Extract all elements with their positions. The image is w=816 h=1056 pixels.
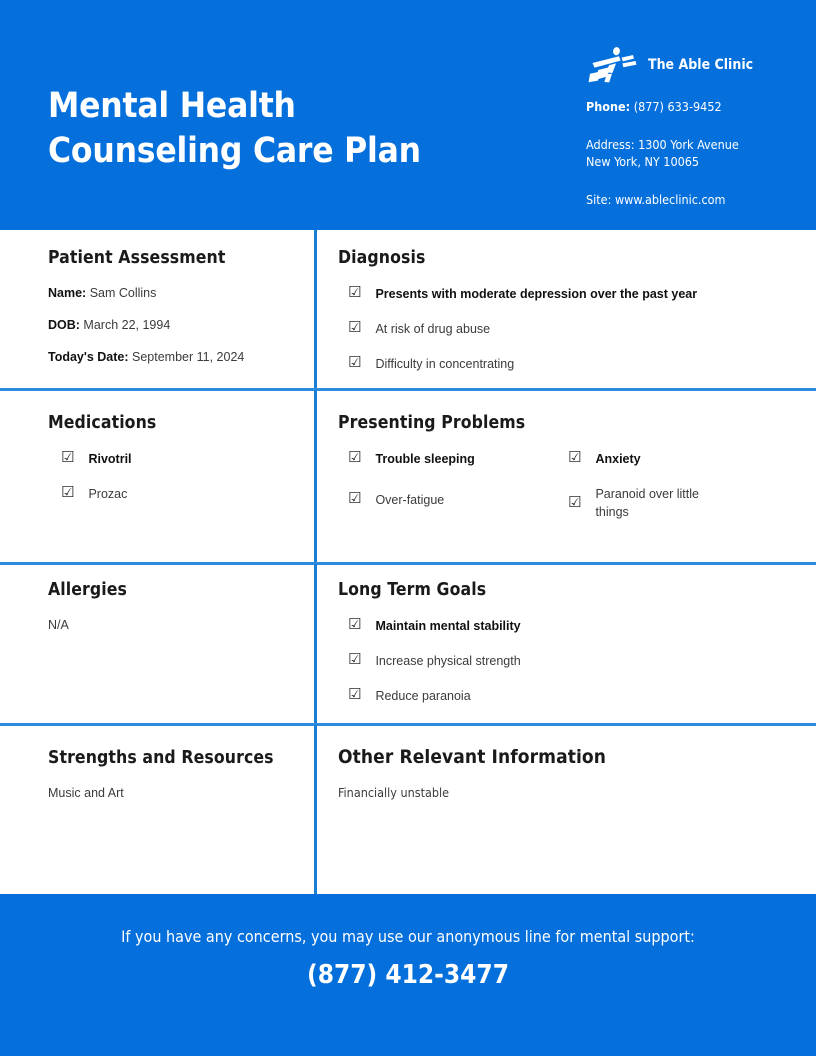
presenting-problems-columns: ☑ Trouble sleeping ☑ Over-fatigue ☑ Anxi… [338, 449, 788, 537]
list-item[interactable]: ☑ Trouble sleeping [348, 449, 568, 468]
page-title-line-1: Mental Health [48, 84, 488, 129]
row-divider-2 [0, 562, 816, 565]
field-todays-date-label: Today's Date: [48, 350, 129, 364]
section-title-medications: Medications [48, 413, 298, 433]
document-body: Patient Assessment Name: Sam Collins DOB… [0, 230, 816, 894]
allergies-value: N/A [48, 616, 298, 634]
document-footer: If you have any concerns, you may use ou… [0, 894, 816, 1056]
section-patient-assessment: Patient Assessment Name: Sam Collins DOB… [48, 248, 298, 380]
section-strengths-and-resources: Strengths and Resources Music and Art [48, 748, 308, 802]
list-item-label: Reduce paranoia [375, 686, 470, 705]
field-todays-date: Today's Date: September 11, 2024 [48, 348, 298, 366]
list-item[interactable]: ☑ Increase physical strength [348, 651, 788, 670]
list-item-label: At risk of drug abuse [375, 319, 490, 338]
clinic-address-line-2: New York, NY 10065 [586, 153, 806, 170]
checkbox-checked-icon[interactable]: ☑ [61, 484, 74, 501]
row-divider-3 [0, 723, 816, 726]
diagnosis-list: ☑ Presents with moderate depression over… [338, 284, 788, 373]
list-item[interactable]: ☑ Maintain mental stability [348, 616, 788, 635]
list-item[interactable]: ☑ Prozac [61, 484, 298, 503]
checkbox-checked-icon[interactable]: ☑ [568, 449, 581, 466]
footer-support-phone: (877) 412-3477 [0, 958, 816, 992]
section-presenting-problems: Presenting Problems ☑ Trouble sleeping ☑… [338, 413, 788, 537]
page-title: Mental Health Counseling Care Plan [48, 84, 488, 174]
field-dob-label: DOB: [48, 318, 80, 332]
list-item-label: Rivotril [88, 449, 131, 468]
list-item-label: Difficulty in concentrating [375, 354, 514, 373]
list-item[interactable]: ☑ Presents with moderate depression over… [348, 284, 788, 303]
list-item[interactable]: ☑ Over-fatigue [348, 490, 568, 509]
column-divider-row-4 [314, 725, 317, 894]
long-term-goals-list: ☑ Maintain mental stability ☑ Increase p… [338, 616, 788, 705]
field-dob: DOB: March 22, 1994 [48, 316, 298, 334]
field-name-label: Name: [48, 286, 86, 300]
presenting-problems-column-left: ☑ Trouble sleeping ☑ Over-fatigue [348, 449, 568, 537]
section-diagnosis: Diagnosis ☑ Presents with moderate depre… [338, 248, 788, 389]
other-relevant-information-value: Financially unstable [338, 784, 788, 802]
field-name-value: Sam Collins [86, 286, 156, 300]
field-todays-date-value: September 11, 2024 [129, 350, 245, 364]
section-title-other-relevant-information: Other Relevant Information [338, 746, 788, 768]
section-other-relevant-information: Other Relevant Information Financially u… [338, 746, 788, 802]
column-divider-row-3 [314, 564, 317, 723]
clinic-phone-value: (877) 633-9452 [630, 99, 722, 114]
running-figure-logo-icon [586, 46, 638, 84]
clinic-address-line-1: Address: 1300 York Avenue [586, 136, 806, 153]
list-item[interactable]: ☑ Rivotril [61, 449, 298, 468]
section-title-strengths-and-resources: Strengths and Resources [48, 748, 308, 768]
column-divider-row-1 [314, 230, 317, 388]
clinic-phone-label: Phone: [586, 99, 630, 114]
section-title-allergies: Allergies [48, 580, 298, 600]
medications-list: ☑ Rivotril ☑ Prozac [48, 449, 298, 503]
checkbox-checked-icon[interactable]: ☑ [348, 354, 361, 371]
list-item[interactable]: ☑ Paranoid over little things [568, 484, 788, 521]
list-item-label: Maintain mental stability [375, 616, 520, 635]
list-item-label: Paranoid over little things [595, 484, 725, 521]
checkbox-checked-icon[interactable]: ☑ [348, 284, 361, 301]
section-title-diagnosis: Diagnosis [338, 248, 788, 268]
clinic-website: Site: www.ableclinic.com [586, 192, 806, 208]
care-plan-document: Mental Health Counseling Care Plan [0, 0, 816, 1056]
checkbox-checked-icon[interactable]: ☑ [568, 494, 581, 511]
field-dob-value: March 22, 1994 [80, 318, 170, 332]
column-divider-row-2 [314, 390, 317, 562]
checkbox-checked-icon[interactable]: ☑ [348, 651, 361, 668]
field-name: Name: Sam Collins [48, 284, 298, 302]
section-medications: Medications ☑ Rivotril ☑ Prozac [48, 413, 298, 519]
footer-support-note: If you have any concerns, you may use ou… [0, 926, 816, 948]
section-long-term-goals: Long Term Goals ☑ Maintain mental stabil… [338, 580, 788, 721]
section-title-presenting-problems: Presenting Problems [338, 413, 788, 433]
checkbox-checked-icon[interactable]: ☑ [348, 616, 361, 633]
checkbox-checked-icon[interactable]: ☑ [61, 449, 74, 466]
clinic-address: Address: 1300 York Avenue New York, NY 1… [586, 136, 806, 170]
clinic-contact-block: Phone: (877) 633-9452 Address: 1300 York… [586, 99, 806, 208]
list-item-label: Anxiety [595, 449, 640, 468]
document-header: Mental Health Counseling Care Plan [0, 0, 816, 230]
section-title-patient-assessment: Patient Assessment [48, 248, 298, 268]
checkbox-checked-icon[interactable]: ☑ [348, 449, 361, 466]
list-item-label: Presents with moderate depression over t… [375, 284, 697, 303]
list-item-label: Increase physical strength [375, 651, 520, 670]
strengths-and-resources-value: Music and Art [48, 784, 308, 802]
list-item[interactable]: ☑ At risk of drug abuse [348, 319, 788, 338]
presenting-problems-column-right: ☑ Anxiety ☑ Paranoid over little things [568, 449, 788, 537]
list-item[interactable]: ☑ Reduce paranoia [348, 686, 788, 705]
list-item[interactable]: ☑ Anxiety [568, 449, 788, 468]
clinic-phone: Phone: (877) 633-9452 [586, 99, 806, 115]
list-item[interactable]: ☑ Difficulty in concentrating [348, 354, 788, 373]
section-allergies: Allergies N/A [48, 580, 298, 634]
list-item-label: Over-fatigue [375, 490, 444, 509]
checkbox-checked-icon[interactable]: ☑ [348, 490, 361, 507]
page-title-line-2: Counseling Care Plan [48, 129, 488, 174]
clinic-brand: The Able Clinic [586, 46, 753, 84]
clinic-name: The Able Clinic [648, 57, 753, 73]
list-item-label: Prozac [88, 484, 127, 503]
checkbox-checked-icon[interactable]: ☑ [348, 319, 361, 336]
list-item-label: Trouble sleeping [375, 449, 474, 468]
checkbox-checked-icon[interactable]: ☑ [348, 686, 361, 703]
section-title-long-term-goals: Long Term Goals [338, 580, 788, 600]
